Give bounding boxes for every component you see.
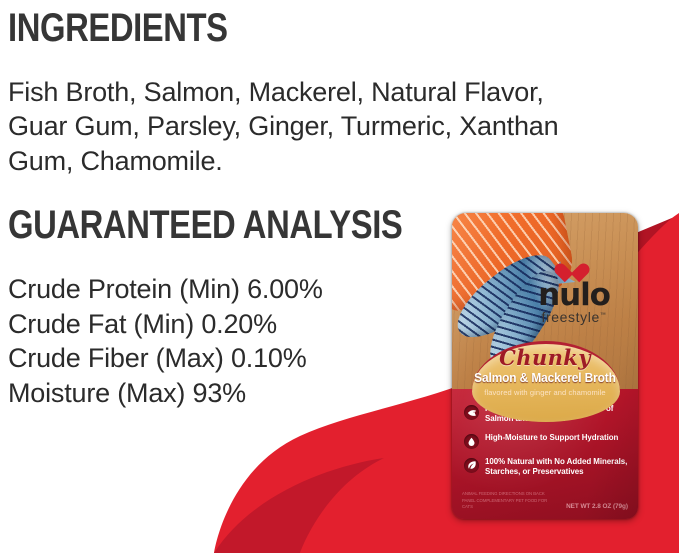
ingredients-heading: INGREDIENTS [8,8,523,48]
legal-microtext: ANIMAL FEEDING DIRECTIONS ON BACK PANEL … [462,491,554,510]
swoosh-lower-wedge [214,458,384,553]
trademark-icon: ™ [600,312,607,318]
water-drop-icon [464,434,479,449]
nulo-brand-logo: nulo freestyle™ [520,259,628,325]
guaranteed-analysis-heading: GUARANTEED ANALYSIS [8,205,523,245]
product-pouch-image: nulo freestyle™ Chunky Salmon & Mackerel… [452,213,638,519]
leaf-icon [464,458,479,473]
fish-flake-icon [464,405,479,420]
benefit-text-natural: 100% Natural with No Added Minerals, Sta… [485,457,628,478]
sub-brand-wordmark: freestyle™ [520,309,628,325]
benefit-item-natural: 100% Natural with No Added Minerals, Sta… [464,457,632,478]
benefit-text-moisture: High-Moisture to Support Hydration [485,433,618,443]
brand-wordmark: nulo [520,281,628,310]
flavor-tagline-label: flavored with ginger and chamomile [458,388,632,397]
texture-script-label: Chunky [458,347,632,368]
benefit-item-moisture: High-Moisture to Support Hydration [464,433,632,449]
flavor-name-block: Chunky Salmon & Mackerel Broth flavored … [458,347,632,397]
pouch-footer-row: ANIMAL FEEDING DIRECTIONS ON BACK PANEL … [462,491,628,510]
heart-icon [563,259,586,280]
variety-name-label: Salmon & Mackerel Broth [462,371,627,385]
net-weight-label: NET WT 2.8 OZ (79g) [566,503,628,510]
sub-brand-label: freestyle [542,309,600,325]
ingredients-body-text: Fish Broth, Salmon, Mackerel, Natural Fl… [8,75,568,179]
